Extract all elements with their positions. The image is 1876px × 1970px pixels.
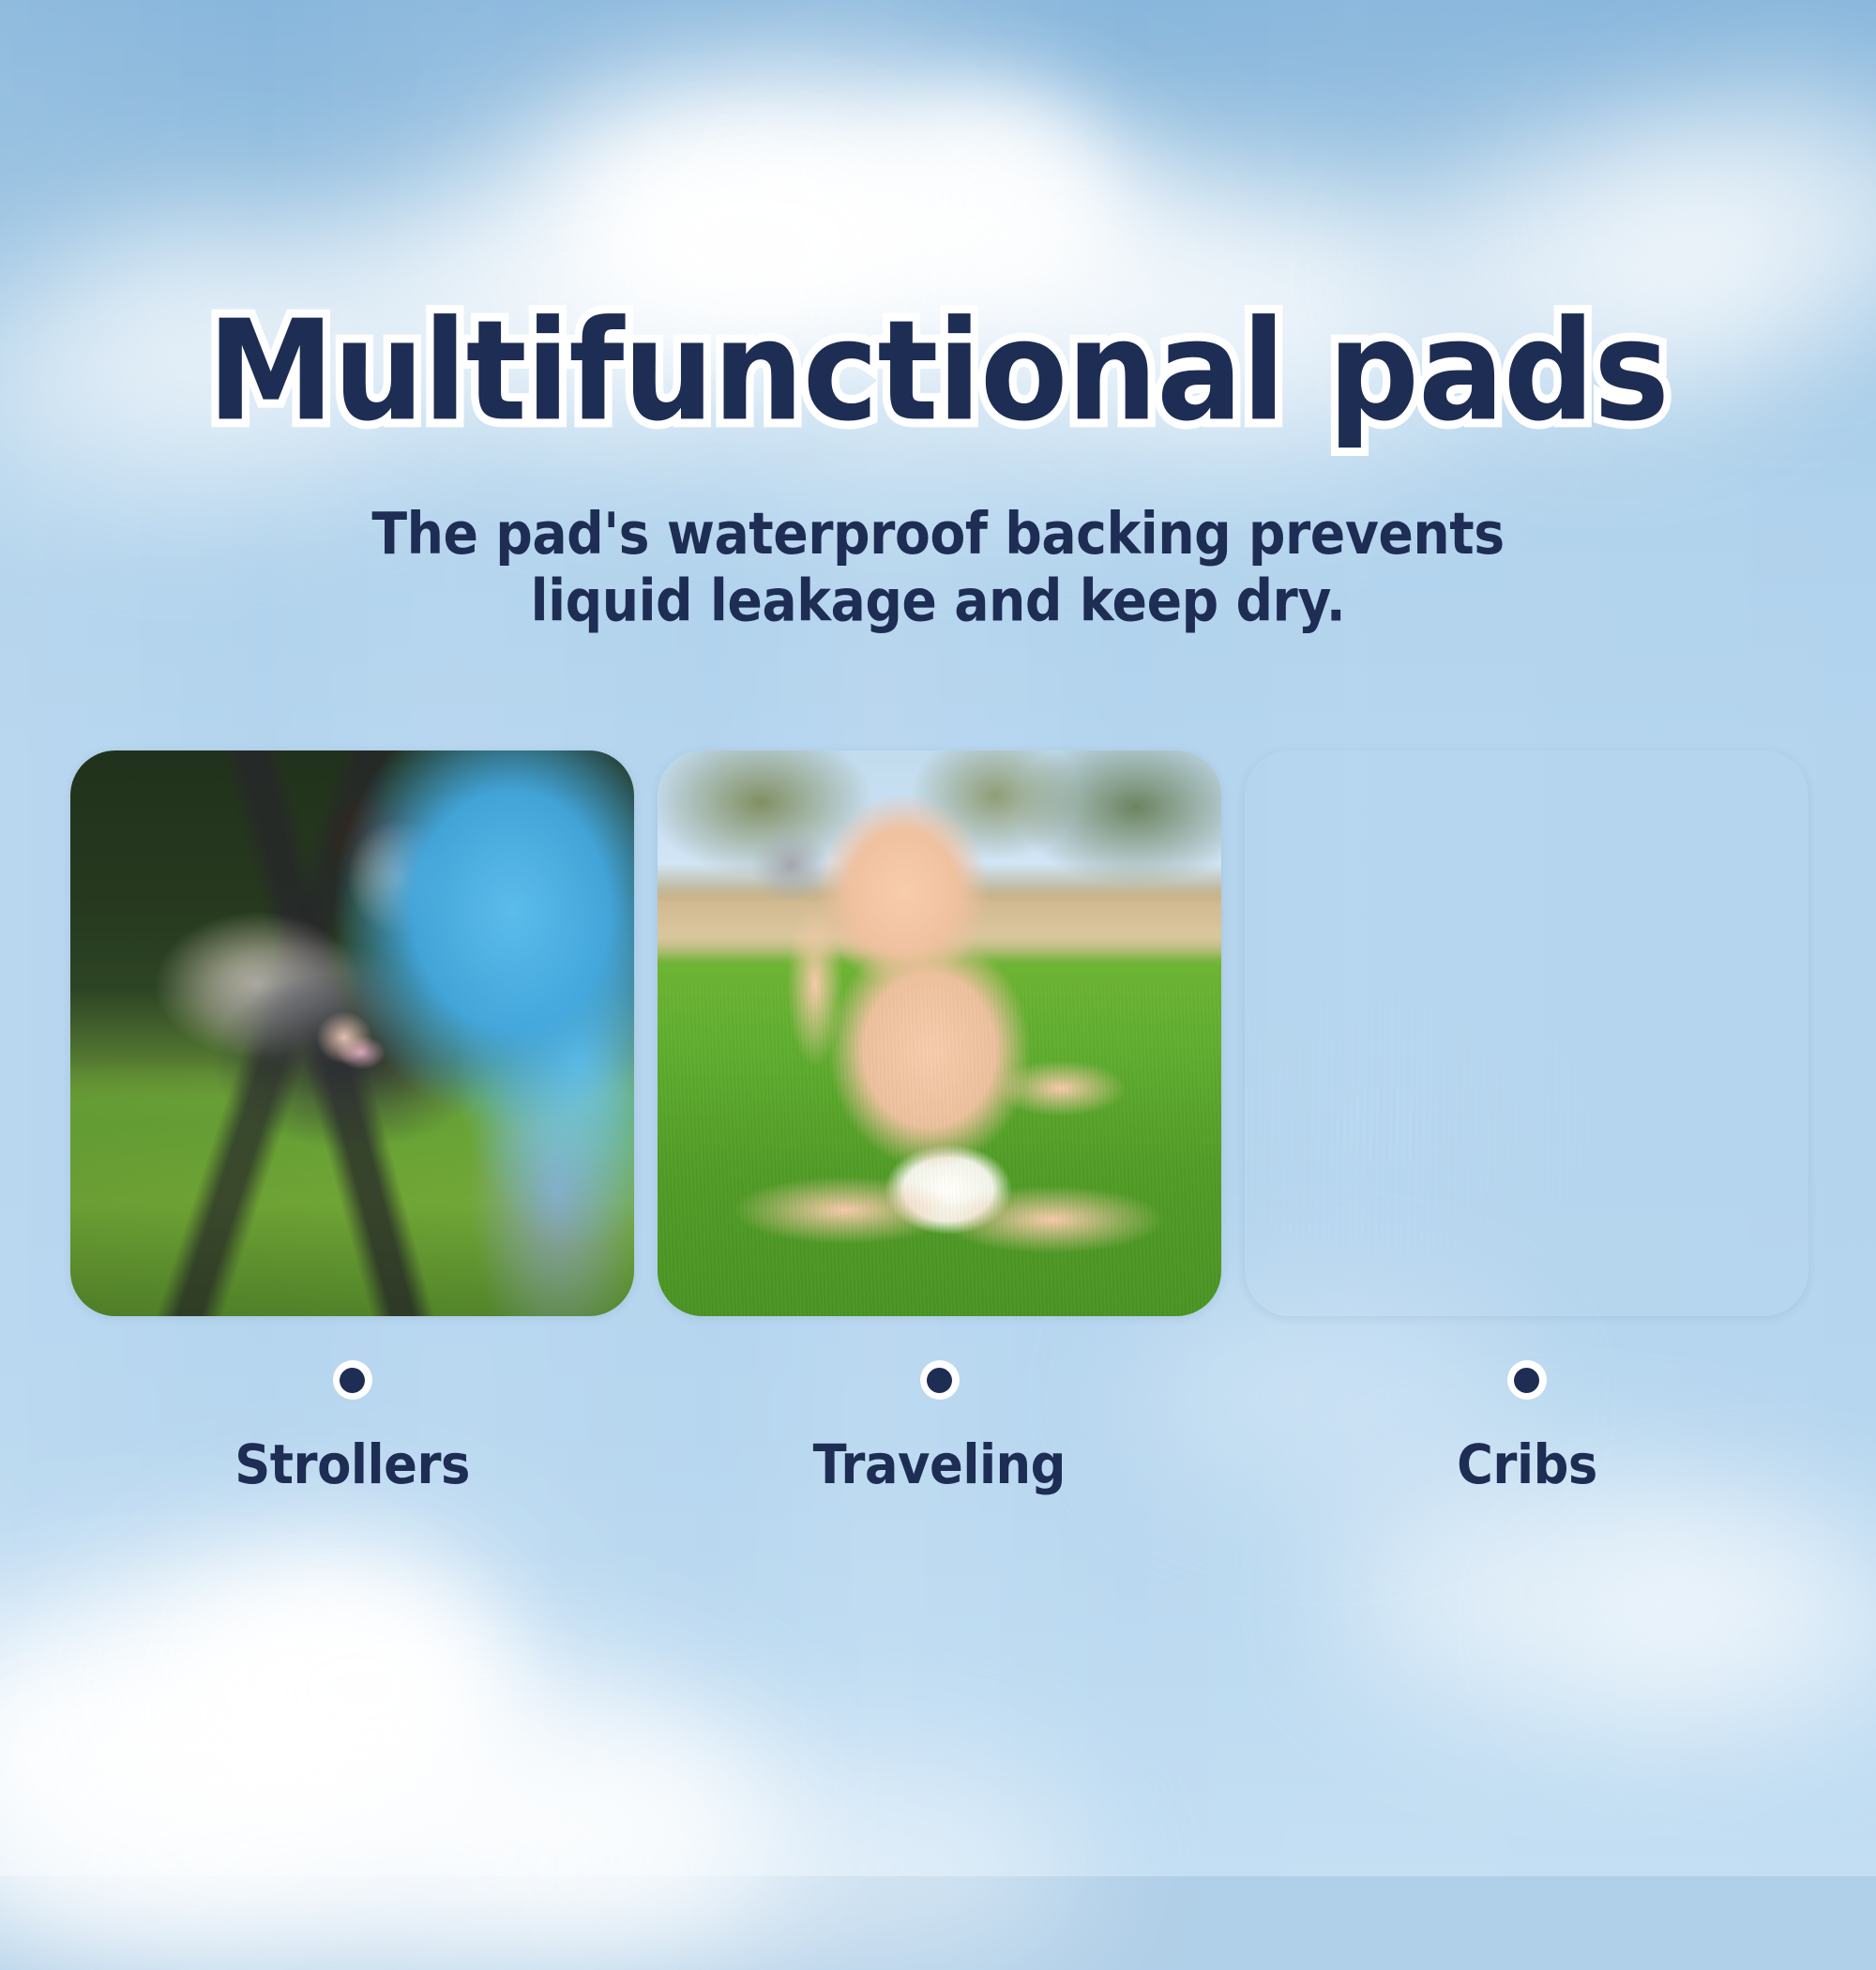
page-subtitle: The pad's waterproof backing prevents li… bbox=[28, 501, 1848, 635]
cloud-puff bbox=[600, 1764, 1088, 1970]
subtitle-line-2: liquid leakage and keep dry. bbox=[28, 568, 1848, 634]
dot-marker-inner-icon bbox=[1514, 1368, 1539, 1393]
traveling-baby-photo bbox=[658, 750, 1221, 1316]
dot-marker-inner-icon bbox=[340, 1368, 365, 1393]
caption-strollers: Strollers bbox=[70, 1360, 634, 1491]
feature-card-strollers[interactable] bbox=[70, 750, 634, 1316]
stroller-photo bbox=[70, 750, 634, 1316]
feature-card-row bbox=[70, 750, 1808, 1316]
feature-caption-row: Strollers Traveling Cribs bbox=[70, 1360, 1808, 1491]
page-title: Multifunctional pads bbox=[0, 302, 1876, 441]
dot-marker-inner-icon bbox=[927, 1368, 952, 1393]
caption-label-strollers: Strollers bbox=[234, 1438, 470, 1493]
feature-card-cribs[interactable] bbox=[1245, 750, 1808, 1316]
caption-cribs: Cribs bbox=[1245, 1360, 1808, 1491]
feature-card-traveling[interactable] bbox=[658, 750, 1221, 1316]
header: Multifunctional pads The pad's waterproo… bbox=[0, 0, 1876, 625]
caption-traveling: Traveling bbox=[658, 1360, 1221, 1491]
dot-marker-icon bbox=[920, 1360, 960, 1400]
caption-label-traveling: Traveling bbox=[813, 1438, 1066, 1493]
dot-marker-icon bbox=[1507, 1360, 1547, 1400]
caption-label-cribs: Cribs bbox=[1457, 1438, 1597, 1493]
dot-marker-icon bbox=[333, 1360, 372, 1400]
subtitle-line-1: The pad's waterproof backing prevents bbox=[28, 501, 1848, 568]
crib-baby-photo bbox=[1245, 750, 1808, 1316]
